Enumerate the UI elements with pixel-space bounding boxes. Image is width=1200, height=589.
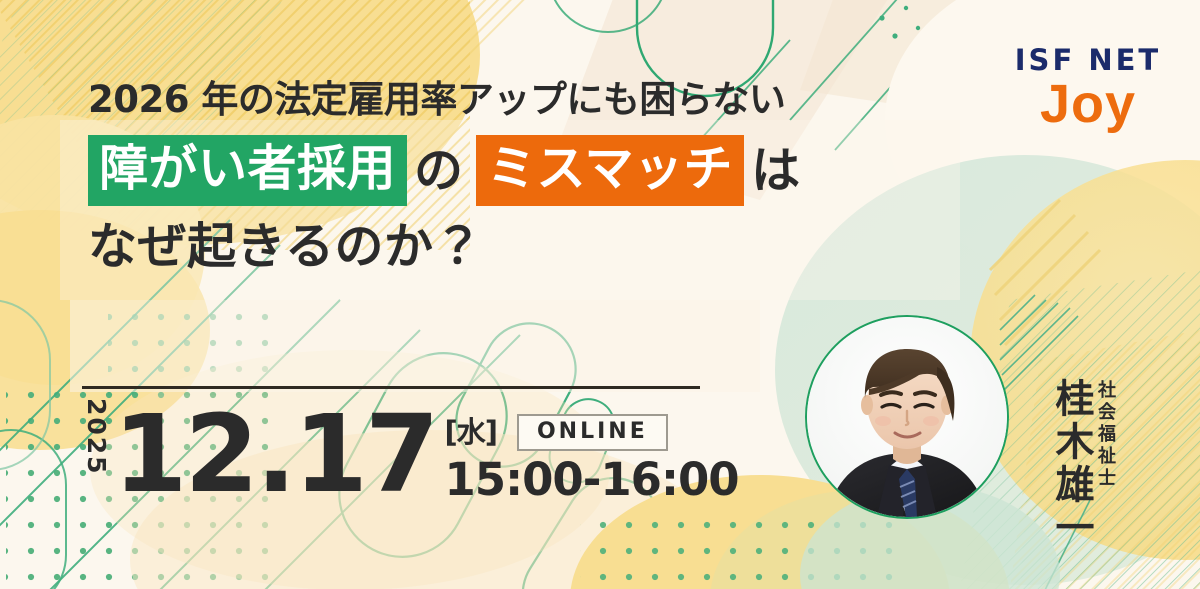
speaker-info: 桂木雄一 社会福祉士 — [1052, 378, 1114, 550]
speaker-qualification: 社会福祉士 — [1096, 380, 1114, 490]
event-year: 2025 — [82, 398, 111, 498]
webinar-banner: ISF NET Joy 2026 年の法定雇用率アップにも困らない 障がい者採用… — [0, 0, 1200, 589]
headline-highlight-orange: ミスマッチ — [476, 135, 744, 206]
speaker-photo — [805, 315, 1009, 519]
headline-line-1: 2026 年の法定雇用率アップにも困らない — [88, 80, 968, 121]
logo-isfnet-text: ISF NET — [998, 46, 1178, 75]
headline-line-3: なぜ起きるのか？ — [88, 222, 968, 271]
headline-connector: の — [407, 146, 470, 195]
headline-line-2: 障がい者採用 の ミスマッチ は — [88, 135, 968, 206]
headline-suffix: は — [744, 146, 807, 195]
event-day-of-week: [水] — [444, 418, 497, 447]
logo-joy-text: Joy — [998, 77, 1178, 131]
headline-block: 2026 年の法定雇用率アップにも困らない 障がい者採用 の ミスマッチ は な… — [88, 80, 968, 271]
event-format-badge: ONLINE — [517, 414, 668, 451]
event-detail-column: [水] ONLINE 15:00-16:00 — [444, 414, 738, 502]
speaker-name: 桂木雄一 — [1052, 378, 1091, 550]
event-time: 15:00-16:00 — [444, 457, 738, 502]
divider-rule — [82, 386, 700, 389]
headline-highlight-green: 障がい者採用 — [88, 135, 407, 206]
speaker-portrait-illustration — [807, 317, 1007, 517]
isf-net-joy-logo: ISF NET Joy — [998, 46, 1178, 131]
event-date-block: 2025 12.17 [水] ONLINE 15:00-16:00 — [82, 398, 739, 504]
event-dow-row: [水] ONLINE — [444, 414, 738, 451]
event-date: 12.17 — [113, 406, 436, 504]
